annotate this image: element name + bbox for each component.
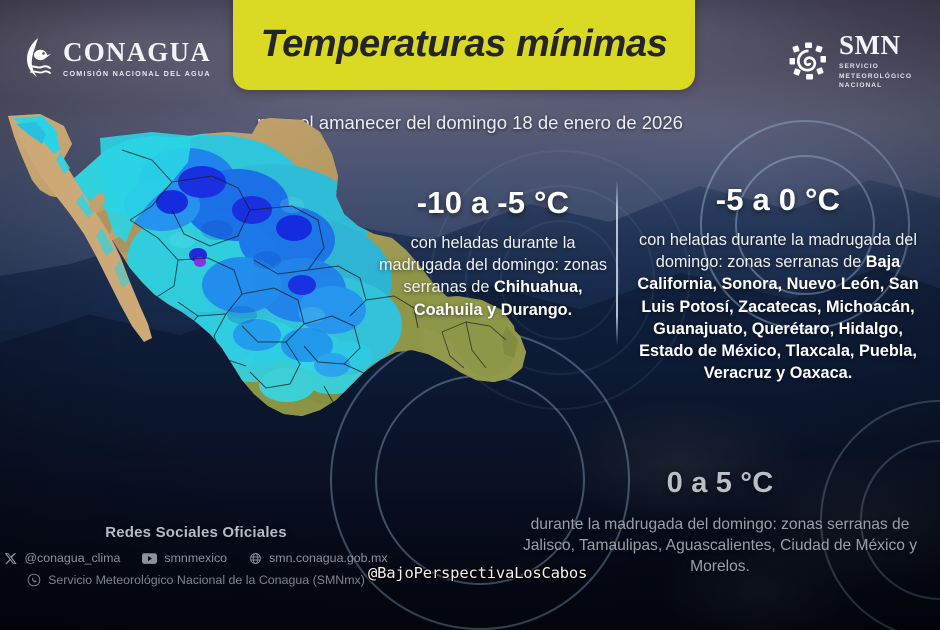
conagua-eagle-water-icon <box>24 36 54 80</box>
smn-subtitle-line1: SERVICIO <box>839 62 912 72</box>
social-link-youtube[interactable]: smnmexico <box>142 551 227 565</box>
conagua-subtitle: COMISIÓN NACIONAL DEL AGUA <box>63 69 211 78</box>
temperature-block-minus5-zero: -5 a 0 °C con heladas durante la madruga… <box>628 183 928 384</box>
infographic-canvas: CONAGUA COMISIÓN NACIONAL DEL AGUA SMN <box>0 0 940 630</box>
whatsapp-icon <box>27 573 41 587</box>
social-link-label: Servicio Meteorológico Nacional de la Co… <box>48 573 365 587</box>
social-link-label: @conagua_clima <box>24 551 120 565</box>
temperature-range-label: -5 a 0 °C <box>628 183 928 217</box>
smn-name: SMN <box>839 32 912 59</box>
social-link-website[interactable]: smn.conagua.gob.mx <box>249 551 387 565</box>
temperature-description: con heladas durante la madrugada del dom… <box>378 232 608 321</box>
social-link-label: smnmexico <box>164 551 227 565</box>
social-footer: Redes Sociales Oficiales @conagua_clima … <box>0 524 392 587</box>
page-title: Temperaturas mínimas <box>261 23 668 66</box>
temperature-block-minus10-minus5: -10 a -5 °C con heladas durante la madru… <box>378 186 608 321</box>
conagua-logo: CONAGUA COMISIÓN NACIONAL DEL AGUA <box>24 36 211 80</box>
social-footer-title: Redes Sociales Oficiales <box>0 524 392 541</box>
temperature-range-label: -10 a -5 °C <box>378 186 608 220</box>
temperature-range-label: 0 a 5 °C <box>520 468 920 500</box>
conagua-name: CONAGUA <box>63 39 211 66</box>
globe-web-icon <box>249 552 262 565</box>
description-states: Baja California, Sonora, Nuevo León, San… <box>637 253 918 382</box>
social-link-whatsapp[interactable]: Servicio Meteorológico Nacional de la Co… <box>0 573 392 587</box>
social-link-x[interactable]: @conagua_clima <box>4 551 120 565</box>
smn-spiral-glyph-icon <box>787 40 829 82</box>
smn-subtitle-line2: METEOROLÓGICO <box>839 72 912 82</box>
watermark-overlay: @BajoPerspectivaLosCabos <box>368 564 587 582</box>
social-link-label: smn.conagua.gob.mx <box>269 551 387 565</box>
youtube-icon <box>142 553 157 564</box>
social-links-row: @conagua_clima smnmexico smn.conagu <box>0 551 392 565</box>
title-banner: Temperaturas mínimas <box>233 0 695 90</box>
column-divider <box>616 180 618 345</box>
smn-logo: SMN SERVICIO METEOROLÓGICO NACIONAL <box>787 32 912 91</box>
x-twitter-icon <box>4 552 17 565</box>
smn-subtitle-line3: NACIONAL <box>839 81 912 91</box>
temperature-description: con heladas durante la madrugada del dom… <box>628 229 928 384</box>
temperature-block-zero-five: 0 a 5 °C durante la madrugada del doming… <box>520 468 920 578</box>
